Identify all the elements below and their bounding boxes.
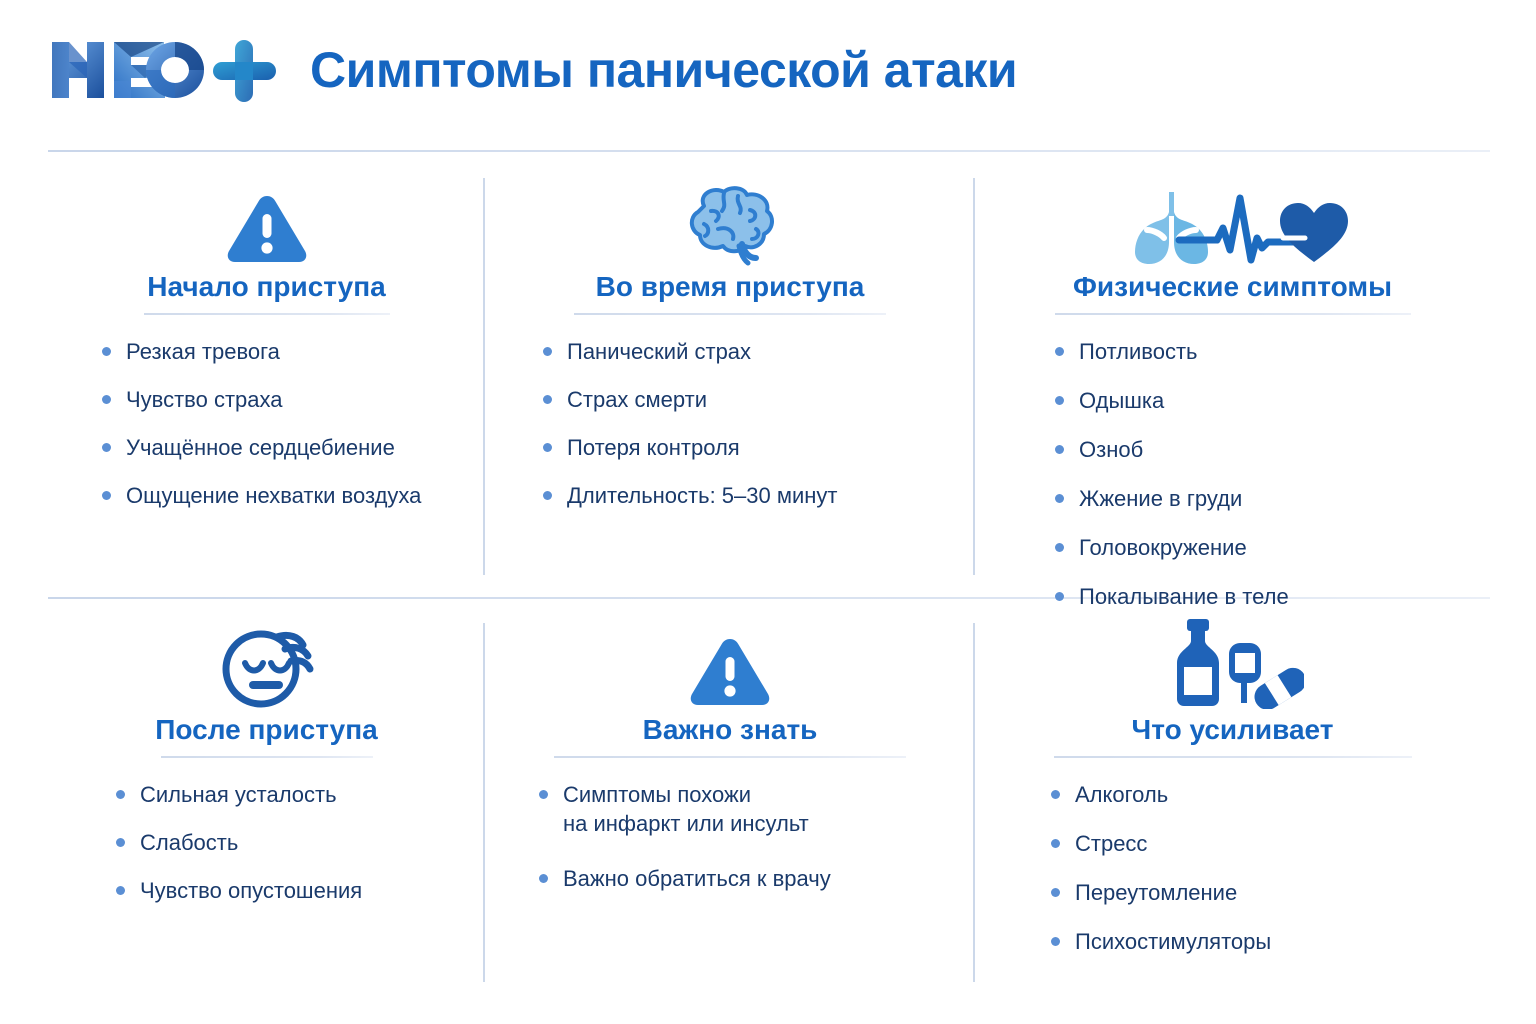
bullet-dot <box>102 443 111 452</box>
heading-underline <box>554 756 906 758</box>
tired-face-icon <box>66 621 467 709</box>
list-item: Чувство опустошения <box>116 876 467 905</box>
list-item: Потливость <box>1055 337 1472 366</box>
list-item: Сильная усталость <box>116 780 467 809</box>
heading-underline <box>1054 756 1412 758</box>
bullet-dot <box>1051 790 1060 799</box>
page-header: Симптомы панической атаки <box>0 0 1536 96</box>
bullet-dot <box>543 347 552 356</box>
list-item: Психостимуляторы <box>1051 927 1472 956</box>
list-item: Слабость <box>116 828 467 857</box>
bullet-dot <box>1055 543 1064 552</box>
card-important-to-know: Важно знать Симптомы похожи на инфаркт и… <box>485 597 975 1004</box>
card-heading: Что усиливает <box>993 715 1472 746</box>
bullet-dot <box>1051 888 1060 897</box>
bullet-dot <box>1055 396 1064 405</box>
card-during-attack: Во время приступа Панический страх Страх… <box>485 152 975 597</box>
list-item: Алкоголь <box>1051 780 1472 809</box>
bullet-dot <box>102 347 111 356</box>
card-items: Панический страх Страх смерти Потеря кон… <box>543 337 957 510</box>
card-items: Симптомы похожи на инфаркт или инсульт В… <box>539 780 957 893</box>
heading-underline <box>144 313 390 315</box>
warning-triangle-icon <box>503 621 957 709</box>
warning-triangle-icon <box>66 178 467 266</box>
bullet-dot <box>102 491 111 500</box>
list-item: Страх смерти <box>543 385 957 414</box>
heading-underline <box>161 756 373 758</box>
symptom-cards-grid: Начало приступа Резкая тревога Чувство с… <box>48 152 1490 1004</box>
card-physical-symptoms: Физические симптомы Потливость Одышка Оз… <box>975 152 1490 597</box>
bullet-dot <box>116 790 125 799</box>
card-heading: Важно знать <box>503 715 957 746</box>
bottle-pills-icon <box>993 621 1472 709</box>
page-title: Симптомы панической атаки <box>310 45 1017 95</box>
card-what-aggravates: Что усиливает Алкоголь Стресс Переутомле… <box>975 597 1490 1004</box>
bullet-dot <box>116 886 125 895</box>
bullet-dot <box>539 874 548 883</box>
list-item: Ощущение нехватки воздуха <box>102 481 467 510</box>
list-item: Головокружение <box>1055 533 1472 562</box>
bullet-dot <box>102 395 111 404</box>
list-item: Озноб <box>1055 435 1472 464</box>
card-attack-onset: Начало приступа Резкая тревога Чувство с… <box>48 152 485 597</box>
bullet-dot <box>543 491 552 500</box>
card-items: Алкоголь Стресс Переутомление Психостиму… <box>1051 780 1472 956</box>
bullet-dot <box>539 790 548 799</box>
card-items: Сильная усталость Слабость Чувство опуст… <box>116 780 467 905</box>
bullet-dot <box>1051 839 1060 848</box>
card-heading: Во время приступа <box>503 272 957 303</box>
list-item: Потеря контроля <box>543 433 957 462</box>
bullet-dot <box>1055 347 1064 356</box>
bullet-dot <box>1051 937 1060 946</box>
bullet-dot <box>543 443 552 452</box>
card-after-attack: После приступа Сильная усталость Слабост… <box>48 597 485 1004</box>
list-item: Чувство страха <box>102 385 467 414</box>
list-item: Панический страх <box>543 337 957 366</box>
list-item: Одышка <box>1055 386 1472 415</box>
bullet-dot <box>1055 445 1064 454</box>
bullet-dot <box>543 395 552 404</box>
bullet-dot <box>116 838 125 847</box>
list-item: Учащённое сердцебиение <box>102 433 467 462</box>
lungs-ecg-heart-icon <box>993 178 1472 266</box>
heading-underline <box>574 313 886 315</box>
heading-underline <box>1055 313 1411 315</box>
list-item: Симптомы похожи на инфаркт или инсульт <box>539 780 957 838</box>
card-heading: Физические симптомы <box>993 272 1472 303</box>
card-heading: После приступа <box>66 715 467 746</box>
list-item: Важно обратиться к врачу <box>539 864 957 893</box>
brain-icon <box>503 178 957 266</box>
list-item: Длительность: 5–30 минут <box>543 481 957 510</box>
neo-plus-logo <box>44 34 284 106</box>
card-heading: Начало приступа <box>66 272 467 303</box>
list-item: Резкая тревога <box>102 337 467 366</box>
bullet-dot <box>1055 494 1064 503</box>
list-item: Стресс <box>1051 829 1472 858</box>
card-items: Потливость Одышка Озноб Жжение в груди Г… <box>1055 337 1472 611</box>
card-items: Резкая тревога Чувство страха Учащённое … <box>102 337 467 510</box>
list-item: Переутомление <box>1051 878 1472 907</box>
list-item: Жжение в груди <box>1055 484 1472 513</box>
